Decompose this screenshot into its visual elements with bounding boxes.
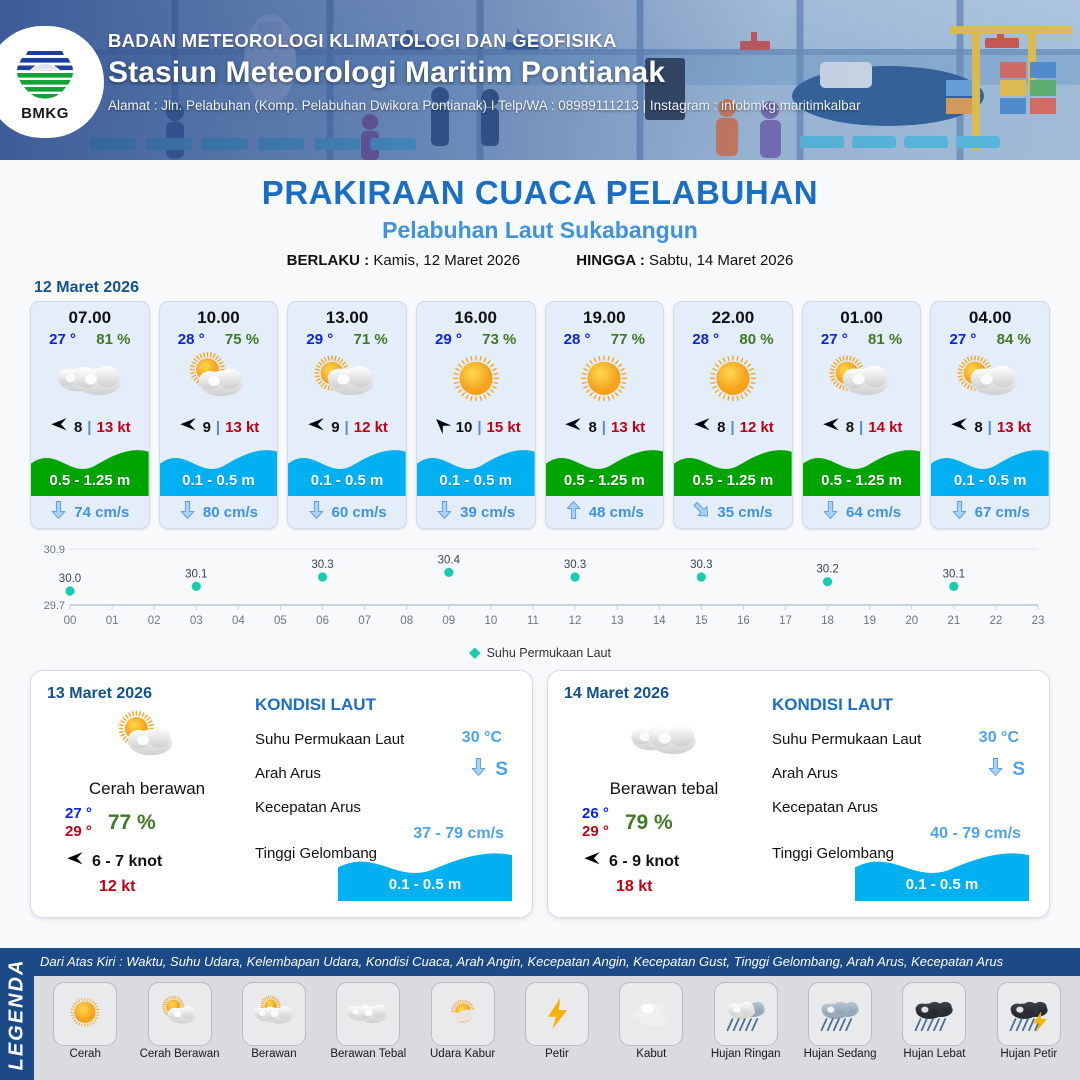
daily-date: 13 Maret 2026 [47,685,247,703]
current-direction-arrow-icon [50,500,67,524]
current-speed-value: 40 - 79 cm/s [930,825,1021,843]
wind-speed-value: 12 kt [740,419,774,436]
card-wave-band: 0.5 - 1.25 m [31,442,149,496]
current-speed-label: Kecepatan Arus [255,799,361,816]
weather-rain-storm-icon [997,982,1061,1046]
card-temp-hum-row: 27 ° 84 % [931,330,1049,350]
wave-height-value: 0.1 - 0.5 m [417,472,535,489]
current-direction-arrow-icon [179,500,196,524]
current-direction-arrow-icon [693,500,710,524]
svg-text:05: 05 [274,615,287,627]
legend-items-row: Cerah Cerah Berawan [34,976,1080,1080]
daily-wind-range: 6 - 7 knot [92,853,162,871]
wind-speed-value: 15 kt [487,419,521,436]
daily-temp-max: 29 ° [65,823,92,840]
daily-wind-row: 6 - 7 knot [47,849,247,874]
daily-wind-row: 6 - 9 knot [564,849,764,874]
weather-haze-icon [431,982,495,1046]
svg-text:30.3: 30.3 [311,559,333,571]
legend-item: Cerah Berawan [132,982,226,1060]
card-humidity: 81 % [96,331,130,348]
current-speed-value: 80 cm/s [203,504,258,521]
card-temperature: 28 ° [564,331,591,348]
current-direction-value: S [495,759,508,781]
card-temperature: 27 ° [821,331,848,348]
legend-item: Hujan Lebat [887,982,981,1060]
current-direction-value-group: S [470,757,508,782]
card-humidity: 80 % [739,331,773,348]
legend-item-label: Udara Kabur [430,1048,495,1060]
hourly-card[interactable]: 01.00 27 ° 81 % 8 | 14 kt [802,301,922,529]
svg-text:30.1: 30.1 [943,568,965,580]
daily-gust: 12 kt [47,878,247,896]
current-speed-value: 39 cm/s [460,504,515,521]
legend-item: Berawan Tebal [321,982,415,1060]
weather-rain-light-icon [714,982,778,1046]
svg-text:14: 14 [653,615,666,627]
current-speed-label: Kecepatan Arus [772,799,878,816]
daily-left: 13 Maret 2026 Cerah berawan 27 ° 29 ° 77 [47,685,247,903]
station-address: Alamat : Jln. Pelabuhan (Komp. Pelabuhan… [108,98,1048,113]
agency-name: BADAN METEOROLOGI KLIMATOLOGI DAN GEOFIS… [108,30,1048,52]
daily-gust: 18 kt [564,878,764,896]
daily-humidity: 79 % [625,811,673,835]
daily-wind-range: 6 - 9 knot [609,853,679,871]
current-direction-value-group: S [987,757,1025,782]
hourly-date-label: 12 Maret 2026 [34,279,1080,297]
weather-sunclo-icon [803,350,921,412]
card-temp-hum-row: 27 ° 81 % [803,330,921,350]
wind-speed-value: 13 kt [611,419,645,436]
card-temp-hum-row: 28 ° 77 % [546,330,664,350]
header-text-block: BADAN METEOROLOGI KLIMATOLOGI DAN GEOFIS… [108,30,1048,113]
daily-condition: Berawan tebal [564,779,764,799]
svg-text:30.4: 30.4 [438,554,461,566]
card-time: 16.00 [417,302,535,330]
current-speed-value: 35 cm/s [717,504,772,521]
wind-direction-arrow-icon [821,415,841,439]
daily-forecast-row: 13 Maret 2026 Cerah berawan 27 ° 29 ° 77 [0,660,1080,918]
svg-text:10: 10 [484,615,497,627]
wind-direction-value: 10 [456,419,473,436]
wave-height-value: 0.1 - 0.5 m [931,472,1049,489]
card-temperature: 29 ° [306,331,333,348]
wind-direction-arrow-icon [563,415,583,439]
page-subtitle: Pelabuhan Laut Sukabangun [0,217,1080,244]
wind-direction-arrow-icon [65,849,85,874]
card-current-row: 67 cm/s [931,496,1049,528]
current-direction-arrow-icon [470,757,487,782]
wind-direction-arrow-icon [692,415,712,439]
svg-text:30.1: 30.1 [185,568,207,580]
svg-text:07: 07 [358,615,371,627]
page-title: PRAKIRAAN CUACA PELABUHAN [0,174,1080,212]
card-temperature: 28 ° [178,331,205,348]
wind-separator: | [216,419,220,436]
weather-sunny-icon [53,982,117,1046]
card-time: 10.00 [160,302,278,330]
card-wave-band: 0.5 - 1.25 m [803,442,921,496]
card-temp-hum-row: 27 ° 81 % [31,330,149,350]
wind-direction-arrow-icon [49,415,69,439]
card-wind-row: 8 | 14 kt [803,412,921,442]
card-time: 22.00 [674,302,792,330]
hingga-value: Sabtu, 14 Maret 2026 [649,252,793,269]
current-speed-value: 37 - 79 cm/s [413,825,504,843]
daily-forecast-panel[interactable]: 14 Maret 2026 Berawan tebal 26 ° 2 [547,670,1050,918]
current-direction-arrow-icon [436,500,453,524]
wind-direction-value: 9 [203,419,211,436]
current-direction-arrow-icon [822,500,839,524]
hourly-card[interactable]: 16.00 29 ° 73 % 10 | 15 kt [416,301,536,529]
wind-direction-arrow-icon [178,415,198,439]
validity-row: BERLAKU : Kamis, 12 Maret 2026 HINGGA : … [0,252,1080,269]
card-time: 01.00 [803,302,921,330]
svg-text:20: 20 [905,615,918,627]
wind-direction-value: 8 [846,419,854,436]
card-current-row: 60 cm/s [288,496,406,528]
card-temp-hum-row: 29 ° 73 % [417,330,535,350]
svg-text:19: 19 [863,615,876,627]
daily-humidity: 77 % [108,811,156,835]
wind-direction-arrow-icon [582,849,602,874]
legend-item: Cerah [38,982,132,1060]
card-temperature: 28 ° [692,331,719,348]
card-time: 13.00 [288,302,406,330]
daily-temp-hum: 27 ° 29 ° 77 % [47,805,247,840]
card-wind-row: 8 | 12 kt [674,412,792,442]
card-wind-row: 8 | 13 kt [31,412,149,442]
legend-item-label: Petir [545,1048,569,1060]
weather-sunclo-icon [288,350,406,412]
svg-text:21: 21 [947,615,960,627]
current-speed-value: 67 cm/s [975,504,1030,521]
weather-lightning-icon [525,982,589,1046]
card-humidity: 84 % [997,331,1031,348]
weather-sunny-icon [546,350,664,412]
title-block: PRAKIRAAN CUACA PELABUHAN Pelabuhan Laut… [0,160,1080,269]
bmkg-emblem-icon [14,43,76,103]
card-wind-row: 10 | 15 kt [417,412,535,442]
legend-item: Petir [510,982,604,1060]
card-wave-band: 0.1 - 0.5 m [931,442,1049,496]
weather-cloudy-icon [336,982,400,1046]
wind-separator: | [988,419,992,436]
hingga-label: HINGGA : [576,252,645,269]
card-humidity: 73 % [482,331,516,348]
svg-text:30.0: 30.0 [59,573,81,585]
legend-item-label: Berawan Tebal [330,1048,406,1060]
wind-speed-value: 13 kt [997,419,1031,436]
wind-speed-value: 14 kt [868,419,902,436]
legend-item-label: Cerah [70,1048,101,1060]
wind-separator: | [730,419,734,436]
current-speed-value: 48 cm/s [589,504,644,521]
daily-left: 14 Maret 2026 Berawan tebal 26 ° 2 [564,685,764,903]
card-wind-row: 9 | 12 kt [288,412,406,442]
svg-text:06: 06 [316,615,329,627]
wind-direction-value: 9 [331,419,339,436]
svg-text:30.2: 30.2 [816,564,838,576]
station-name: Stasiun Meteorologi Maritim Pontianak [108,56,1048,90]
daily-temp-min: 27 ° [65,805,92,822]
legend-item-label: Hujan Ringan [711,1048,781,1060]
hourly-card[interactable]: 10.00 28 ° 75 % 9 | 13 kt [159,301,279,529]
current-direction-arrow-icon [987,757,1004,782]
wave-height-value: 0.5 - 1.25 m [31,472,149,489]
weather-sunny-icon [417,350,535,412]
daily-condition: Cerah berawan [47,779,247,799]
wind-separator: | [477,419,481,436]
svg-text:17: 17 [779,615,792,627]
card-current-row: 74 cm/s [31,496,149,528]
weather-cloudy-icon [564,709,764,771]
current-direction-arrow-icon [565,500,582,524]
sst-value: 30 °C [462,729,502,747]
legend-item-label: Berawan [251,1048,296,1060]
sst-label: Suhu Permukaan Laut [255,731,404,748]
wind-direction-value: 8 [74,419,82,436]
wave-height-band: 0.1 - 0.5 m [855,845,1029,901]
current-direction-arrow-icon [308,500,325,524]
wave-height-value: 0.5 - 1.25 m [674,472,792,489]
weather-sunclo-icon [931,350,1049,412]
hourly-card[interactable]: 13.00 29 ° 71 % 9 | 12 kt [287,301,407,529]
card-current-row: 48 cm/s [546,496,664,528]
daily-temp-hum: 26 ° 29 ° 79 % [564,805,764,840]
wave-height-value: 0.1 - 0.5 m [338,876,512,893]
wave-height-value: 0.5 - 1.25 m [803,472,921,489]
card-time: 07.00 [31,302,149,330]
legend-side-title: LEGENDA [0,948,34,1080]
daily-temp-column: 27 ° 29 ° [65,805,92,840]
card-wind-row: 8 | 13 kt [931,412,1049,442]
wind-direction-value: 8 [974,419,982,436]
berlaku-value: Kamis, 12 Maret 2026 [373,252,520,269]
weather-partly-icon [160,350,278,412]
legend-bar: LEGENDA Dari Atas Kiri : Waktu, Suhu Uda… [0,948,1080,1080]
legend-item: Hujan Sedang [793,982,887,1060]
wind-speed-value: 13 kt [225,419,259,436]
sea-conditions: KONDISI LAUT Suhu Permukaan Laut 30 °C A… [247,685,516,903]
svg-text:00: 00 [64,615,77,627]
legend-item-label: Hujan Sedang [804,1048,877,1060]
wave-height-value: 0.1 - 0.5 m [160,472,278,489]
wind-direction-value: 8 [588,419,596,436]
card-current-row: 64 cm/s [803,496,921,528]
weather-fog-icon [619,982,683,1046]
svg-text:09: 09 [442,615,455,627]
card-temperature: 27 ° [950,331,977,348]
daily-date: 14 Maret 2026 [564,685,764,703]
current-speed-value: 64 cm/s [846,504,901,521]
wind-direction-value: 8 [717,419,725,436]
sst-chart: 30.929.700010203040506070809101112131415… [30,539,1050,649]
weather-partly-icon [47,709,247,771]
svg-text:22: 22 [990,615,1003,627]
current-direction-arrow-icon [951,500,968,524]
wave-height-value: 0.1 - 0.5 m [288,472,406,489]
svg-text:12: 12 [569,615,582,627]
current-direction-value: S [1012,759,1025,781]
weather-sunclo2-icon [242,982,306,1046]
svg-text:15: 15 [695,615,708,627]
svg-text:04: 04 [232,615,245,627]
sst-value: 30 °C [979,729,1019,747]
hourly-card[interactable]: 22.00 28 ° 80 % 8 | 12 kt [673,301,793,529]
legend-item: Hujan Ringan [699,982,793,1060]
wave-height-value: 0.1 - 0.5 m [855,876,1029,893]
card-current-row: 39 cm/s [417,496,535,528]
legend-side-title-text: LEGENDA [6,958,29,1070]
sea-conditions-title: KONDISI LAUT [772,695,1033,715]
hingga-group: HINGGA : Sabtu, 14 Maret 2026 [576,252,793,269]
svg-text:18: 18 [821,615,834,627]
hourly-forecast-row: 07.00 27 ° 81 % 8 [0,301,1080,529]
wind-separator: | [345,419,349,436]
legend-item: Udara Kabur [415,982,509,1060]
sst-label: Suhu Permukaan Laut [772,731,921,748]
daily-temp-column: 26 ° 29 ° [582,805,609,840]
svg-text:29.7: 29.7 [44,600,65,612]
svg-text:30.9: 30.9 [44,544,65,556]
sst-chart-svg: 30.929.700010203040506070809101112131415… [30,539,1050,643]
svg-text:30.3: 30.3 [690,559,712,571]
card-temperature: 29 ° [435,331,462,348]
card-wave-band: 0.1 - 0.5 m [288,442,406,496]
card-humidity: 81 % [868,331,902,348]
wave-height-band: 0.1 - 0.5 m [338,845,512,901]
current-speed-value: 74 cm/s [74,504,129,521]
legend-item-label: Kabut [636,1048,666,1060]
current-direction-label: Arah Arus [772,765,838,782]
wind-speed-value: 12 kt [354,419,388,436]
svg-text:08: 08 [400,615,413,627]
card-humidity: 77 % [611,331,645,348]
sea-conditions: KONDISI LAUT Suhu Permukaan Laut 30 °C A… [764,685,1033,903]
wind-direction-arrow-icon [431,415,451,439]
card-wave-band: 0.5 - 1.25 m [674,442,792,496]
wind-separator: | [602,419,606,436]
weather-partly-icon [148,982,212,1046]
legend-item-label: Hujan Petir [1000,1048,1057,1060]
svg-text:11: 11 [527,615,539,627]
card-wave-band: 0.5 - 1.25 m [546,442,664,496]
wind-direction-arrow-icon [306,415,326,439]
svg-text:03: 03 [190,615,203,627]
sea-conditions-title: KONDISI LAUT [255,695,516,715]
card-humidity: 71 % [354,331,388,348]
weather-rain-mid-icon [808,982,872,1046]
current-speed-value: 60 cm/s [332,504,387,521]
daily-temp-min: 26 ° [582,805,609,822]
card-wind-row: 8 | 13 kt [546,412,664,442]
weather-cloudy-icon [31,350,149,412]
daily-forecast-panel[interactable]: 13 Maret 2026 Cerah berawan 27 ° 29 ° 77 [30,670,533,918]
berlaku-group: BERLAKU : Kamis, 12 Maret 2026 [287,252,520,269]
card-current-row: 35 cm/s [674,496,792,528]
hourly-card[interactable]: 07.00 27 ° 81 % 8 [30,301,150,529]
card-humidity: 75 % [225,331,259,348]
card-wave-band: 0.1 - 0.5 m [417,442,535,496]
bmkg-logo-text: BMKG [21,105,69,122]
card-temp-hum-row: 28 ° 80 % [674,330,792,350]
card-temp-hum-row: 29 ° 71 % [288,330,406,350]
legend-item: Kabut [604,982,698,1060]
wind-direction-arrow-icon [949,415,969,439]
wind-separator: | [87,419,91,436]
svg-text:02: 02 [148,615,161,627]
hourly-card[interactable]: 04.00 27 ° 84 % 8 | 13 kt [930,301,1050,529]
card-current-row: 80 cm/s [160,496,278,528]
legend-caption: Dari Atas Kiri : Waktu, Suhu Udara, Kele… [40,954,1076,969]
wind-speed-value: 13 kt [96,419,130,436]
legend-item: Berawan [227,982,321,1060]
legend-item-label: Hujan Lebat [903,1048,965,1060]
svg-text:30.3: 30.3 [564,559,586,571]
weather-sunny-icon [674,350,792,412]
card-temp-hum-row: 28 ° 75 % [160,330,278,350]
card-time: 19.00 [546,302,664,330]
hourly-card[interactable]: 19.00 28 ° 77 % 8 | 13 kt [545,301,665,529]
wave-height-value: 0.5 - 1.25 m [546,472,664,489]
svg-text:16: 16 [737,615,750,627]
weather-rain-heavy-icon [902,982,966,1046]
card-time: 04.00 [931,302,1049,330]
page-header: BMKG BADAN METEOROLOGI KLIMATOLOGI DAN G… [0,0,1080,160]
legend-item: Hujan Petir [982,982,1076,1060]
card-wind-row: 9 | 13 kt [160,412,278,442]
svg-text:13: 13 [611,615,624,627]
berlaku-label: BERLAKU : [287,252,370,269]
card-temperature: 27 ° [49,331,76,348]
legend-item-label: Cerah Berawan [140,1048,220,1060]
daily-temp-max: 29 ° [582,823,609,840]
svg-text:01: 01 [106,615,119,627]
wind-separator: | [859,419,863,436]
svg-text:23: 23 [1032,615,1045,627]
current-direction-label: Arah Arus [255,765,321,782]
card-wave-band: 0.1 - 0.5 m [160,442,278,496]
